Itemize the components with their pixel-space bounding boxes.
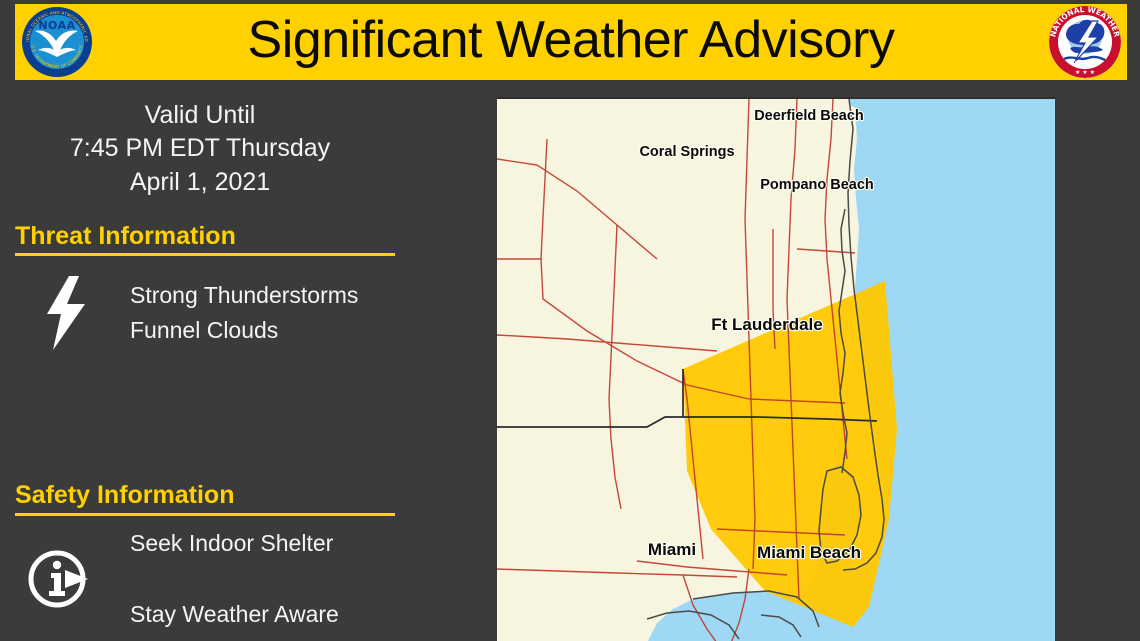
- advisory-banner: NATIONAL OCEANIC AND ATMOSPHERIC ADMIN U…: [15, 4, 1127, 80]
- threat-item: Strong Thunderstorms: [130, 278, 470, 314]
- safety-items: Seek Indoor Shelter Stay Weather Aware: [130, 526, 470, 633]
- safety-section: Safety Information Seek Indoor Shelter S…: [0, 482, 470, 633]
- city-label-deerfield-beach: Deerfield Beach: [754, 108, 864, 124]
- noaa-ring-text: NATIONAL OCEANIC AND ATMOSPHERIC ADMIN U…: [22, 7, 92, 77]
- valid-until-date: April 1, 2021: [0, 166, 400, 199]
- noaa-wordmark: NOAA: [22, 19, 92, 32]
- nws-logo-slot: NATIONAL WEATHER SERVICE ★ ★ ★: [1043, 4, 1127, 80]
- threat-heading: Threat Information: [0, 223, 470, 251]
- advisory-map[interactable]: Deerfield Beach Coral Springs Pompano Be…: [497, 97, 1055, 641]
- map-canvas: Deerfield Beach Coral Springs Pompano Be…: [497, 99, 1055, 641]
- lightning-bolt-glyph: [39, 274, 91, 352]
- nws-ring-text: NATIONAL WEATHER SERVICE ★ ★ ★: [1049, 6, 1121, 78]
- city-label-ft-lauderdale: Ft Lauderdale: [711, 315, 822, 334]
- threat-section: Threat Information Strong Thunderstorms …: [0, 223, 470, 353]
- svg-text:★ ★ ★: ★ ★ ★: [1075, 69, 1095, 76]
- safety-item: Stay Weather Aware: [130, 597, 470, 633]
- advisory-info-panel: Valid Until 7:45 PM EDT Thursday April 1…: [0, 84, 470, 641]
- city-label-miami: Miami: [648, 540, 696, 559]
- safety-heading: Safety Information: [0, 482, 470, 510]
- info-bubble-glyph: [25, 542, 105, 616]
- threat-items: Strong Thunderstorms Funnel Clouds: [130, 278, 470, 349]
- info-bubble-icon: [0, 542, 130, 616]
- city-label-miami-beach: Miami Beach: [757, 543, 861, 562]
- city-label-coral-springs: Coral Springs: [639, 144, 734, 160]
- validity-block: Valid Until 7:45 PM EDT Thursday April 1…: [0, 84, 470, 199]
- noaa-logo-slot: NATIONAL OCEANIC AND ATMOSPHERIC ADMIN U…: [15, 4, 99, 80]
- svg-text:U.S. DEPARTMENT OF COMMERCE: U.S. DEPARTMENT OF COMMERCE: [30, 44, 84, 69]
- threat-item: Funnel Clouds: [130, 313, 470, 349]
- threat-content-row: Strong Thunderstorms Funnel Clouds: [0, 274, 470, 352]
- safety-underline: [15, 513, 395, 516]
- valid-until-label: Valid Until: [0, 99, 400, 132]
- threat-underline: [15, 253, 395, 256]
- noaa-seal-icon: NATIONAL OCEANIC AND ATMOSPHERIC ADMIN U…: [22, 7, 92, 77]
- safety-content-row: Seek Indoor Shelter Stay Weather Aware: [0, 526, 470, 633]
- safety-item: Seek Indoor Shelter: [130, 526, 470, 562]
- nws-seal-icon: NATIONAL WEATHER SERVICE ★ ★ ★: [1049, 6, 1121, 78]
- city-label-pompano-beach: Pompano Beach: [760, 177, 874, 193]
- lightning-bolt-icon: [0, 274, 130, 352]
- svg-text:NATIONAL WEATHER: NATIONAL WEATHER: [1049, 6, 1121, 38]
- page-title: Significant Weather Advisory: [99, 14, 1043, 70]
- valid-until-time: 7:45 PM EDT Thursday: [0, 132, 400, 165]
